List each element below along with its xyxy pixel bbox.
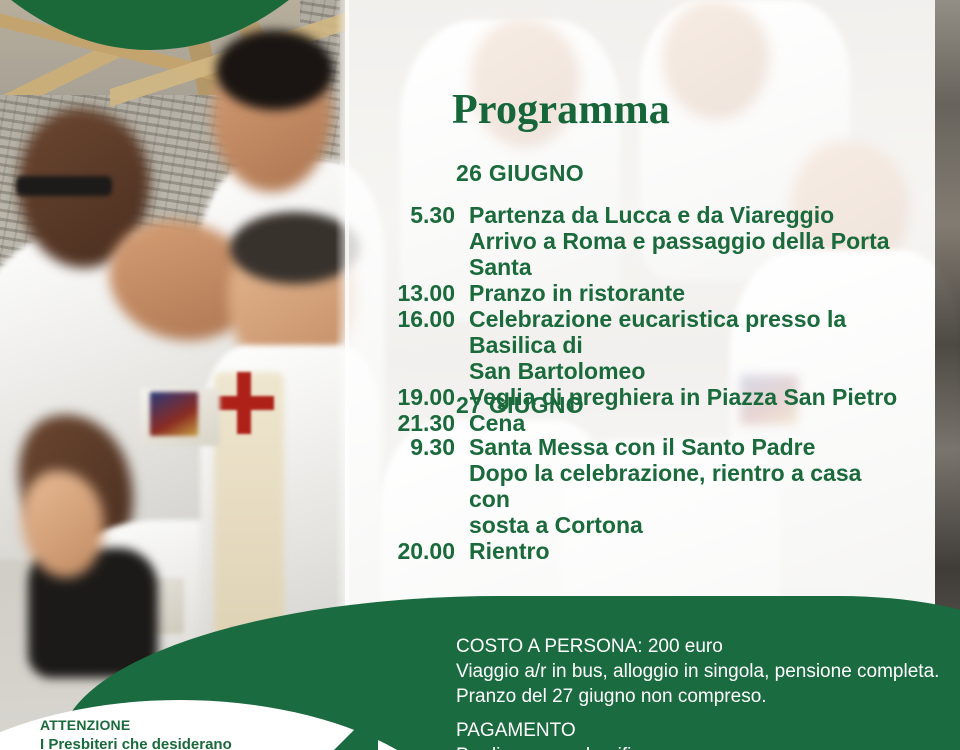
schedule-description: Rientro xyxy=(469,538,905,564)
schedule-row: 5.30 Partenza da Lucca e da Viareggio xyxy=(345,202,905,228)
schedule-description: Pranzo in ristorante xyxy=(469,280,905,306)
schedule-row: San Bartolomeo xyxy=(345,358,905,384)
priest-center-hair xyxy=(216,30,334,110)
schedule-description: Partenza da Lucca e da Viareggio xyxy=(469,202,905,228)
priest-left-glasses xyxy=(16,176,112,196)
schedule-row: 13.00 Pranzo in ristorante xyxy=(345,280,905,306)
schedule-description: Santa Messa con il Santo Padre xyxy=(469,434,905,460)
schedule-row: 21.30 Cena xyxy=(345,410,905,436)
schedule-time: 13.00 xyxy=(345,280,469,306)
schedule-description: Celebrazione eucaristica presso la Basil… xyxy=(469,306,905,358)
schedule-list-day-1: 5.30 Partenza da Lucca e da Viareggio Ar… xyxy=(345,202,905,436)
jerusalem-cross-front xyxy=(214,372,274,434)
cost-includes-line-2: Pranzo del 27 giugno non compreso. xyxy=(456,684,939,709)
schedule-time: 21.30 xyxy=(345,410,469,436)
schedule-row: Dopo la celebrazione, rientro a casa con xyxy=(345,460,905,512)
cost-line: COSTO A PERSONA: 200 euro xyxy=(456,634,939,659)
cost-block: COSTO A PERSONA: 200 euro Viaggio a/r in… xyxy=(456,634,939,709)
schedule-row: 16.00 Celebrazione eucaristica presso la… xyxy=(345,306,905,358)
schedule-time: 20.00 xyxy=(345,538,469,564)
schedule-description: San Bartolomeo xyxy=(469,358,905,384)
day-label-26: 26 GIUGNO xyxy=(456,160,584,187)
payment-heading: PAGAMENTO xyxy=(456,718,689,743)
schedule-row: 20.00 Rientro xyxy=(345,538,905,564)
schedule-row: 9.30 Santa Messa con il Santo Padre xyxy=(345,434,905,460)
schedule-time: 16.00 xyxy=(345,306,469,332)
payment-line-1: Predisporre un bonifico per: xyxy=(456,743,689,750)
cost-includes-line-1: Viaggio a/r in bus, alloggio in singola,… xyxy=(456,659,939,684)
page-title: Programma xyxy=(452,86,670,134)
schedule-description: Arrivo a Roma e passaggio della Porta Sa… xyxy=(469,228,905,280)
attention-line-1: I Presbiteri che desiderano xyxy=(40,736,232,750)
day-label-27: 27 GIUGNO xyxy=(456,392,584,419)
payment-block: PAGAMENTO Predisporre un bonifico per: xyxy=(456,718,689,750)
schedule-description: Dopo la celebrazione, rientro a casa con xyxy=(469,460,905,512)
schedule-time: 19.00 xyxy=(345,384,469,410)
attention-heading: ATTENZIONE xyxy=(40,717,130,733)
schedule-time: 9.30 xyxy=(345,434,469,460)
book-illumination xyxy=(150,392,198,436)
schedule-list-day-2: 9.30 Santa Messa con il Santo Padre Dopo… xyxy=(345,434,905,564)
poster-canvas: Programma 26 GIUGNO 5.30 Partenza da Luc… xyxy=(0,0,960,750)
schedule-row: sosta a Cortona xyxy=(345,512,905,538)
schedule-description: sosta a Cortona xyxy=(469,512,905,538)
schedule-row: 19.00 Veglia di preghiera in Piazza San … xyxy=(345,384,905,410)
schedule-time: 5.30 xyxy=(345,202,469,228)
schedule-row: Arrivo a Roma e passaggio della Porta Sa… xyxy=(345,228,905,280)
